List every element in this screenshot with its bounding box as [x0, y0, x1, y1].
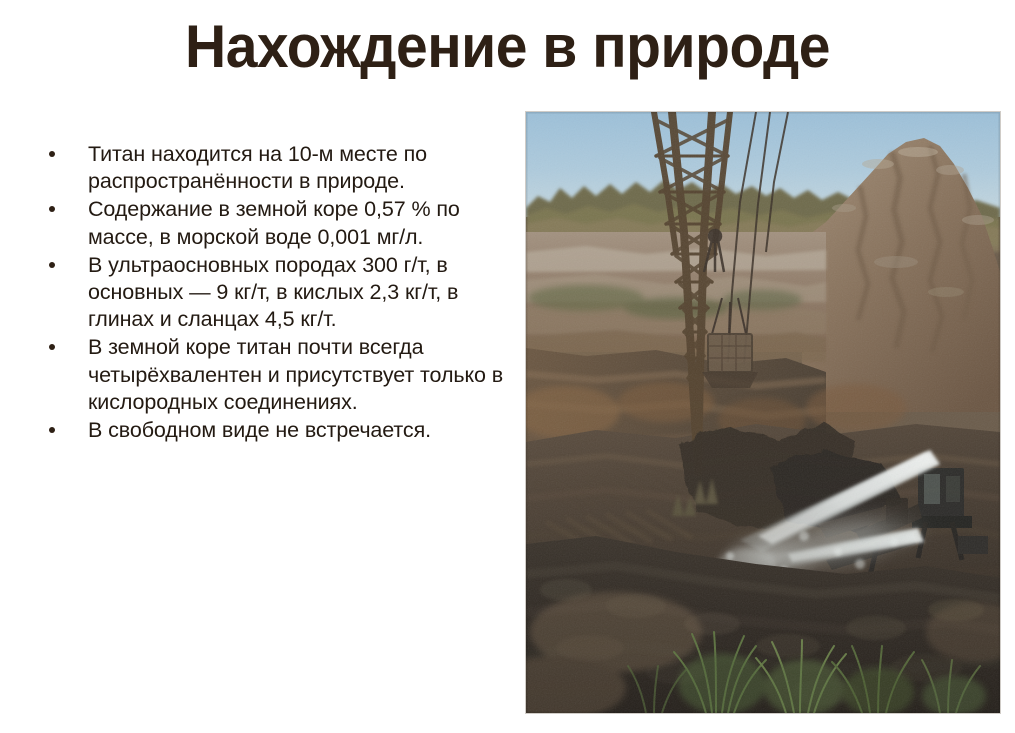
bullet-dot-icon — [49, 344, 55, 350]
bullet-list: Титан находится на 10-м месте по распрос… — [34, 141, 512, 445]
list-item: Содержание в земной коре 0,57 % по массе… — [34, 196, 512, 250]
list-item: Титан находится на 10-м месте по распрос… — [34, 141, 512, 195]
quarry-photograph — [526, 112, 1000, 713]
list-item: В земной коре титан почти всегда четырёх… — [34, 334, 512, 416]
list-item-label: Содержание в земной коре 0,57 % по массе… — [88, 196, 512, 250]
list-item-label: В ультраосновных породах 300 г/т, в осно… — [88, 252, 512, 334]
bullet-dot-icon — [49, 151, 55, 157]
list-item-label: Титан находится на 10-м месте по распрос… — [88, 141, 512, 195]
list-item: В ультраосновных породах 300 г/т, в осно… — [34, 252, 512, 334]
bullet-dot-icon — [49, 427, 55, 433]
list-item-label: В земной коре титан почти всегда четырёх… — [88, 334, 512, 416]
list-item-label: В свободном виде не встречается. — [88, 417, 512, 444]
list-item: В свободном виде не встречается. — [34, 417, 512, 444]
page-title: Нахождение в природе — [25, 14, 989, 80]
bullet-dot-icon — [49, 262, 55, 268]
quarry-photograph-image — [526, 112, 1000, 713]
bullet-dot-icon — [49, 206, 55, 212]
slide-canvas: Нахождение в природе Титан находится на … — [0, 0, 1015, 733]
